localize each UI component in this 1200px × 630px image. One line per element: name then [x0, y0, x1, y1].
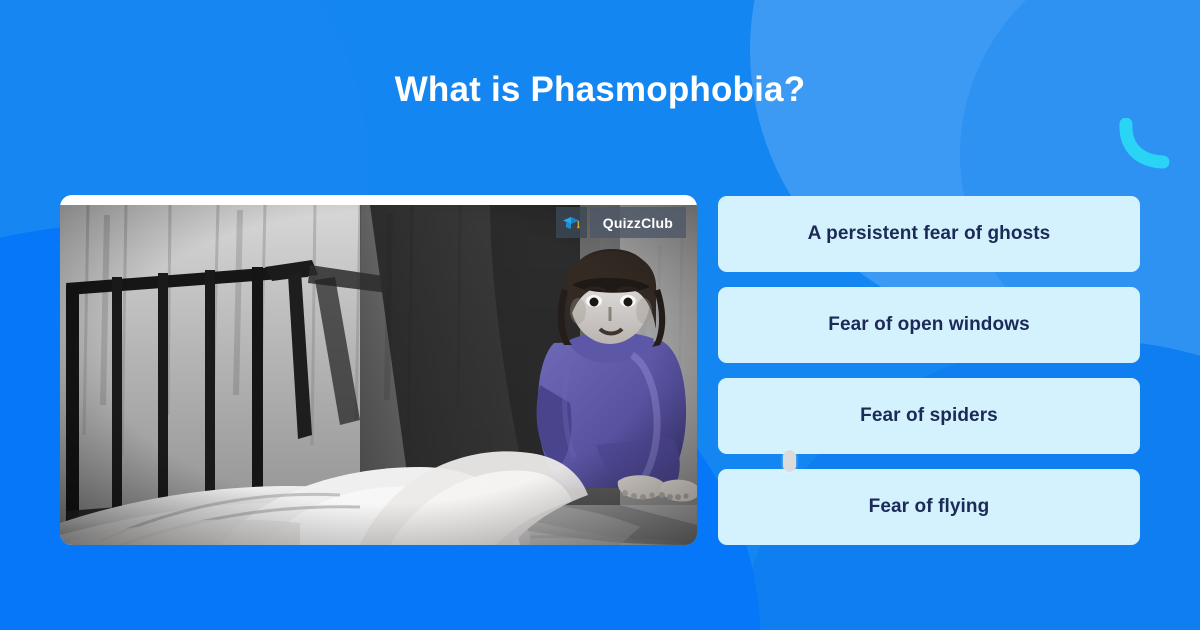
answer-option-label: A persistent fear of ghosts	[808, 223, 1051, 245]
answer-options-list: A persistent fear of ghosts Fear of open…	[718, 196, 1140, 545]
graduation-cap-icon	[556, 207, 587, 238]
watermark: QuizzClub	[556, 207, 686, 238]
scroll-handle[interactable]	[783, 450, 796, 472]
quiz-card: What is Phasmophobia?	[0, 0, 1200, 630]
page-title: What is Phasmophobia?	[0, 70, 1200, 110]
answer-option-2[interactable]: Fear of open windows	[718, 287, 1140, 363]
question-illustration: QuizzClub	[60, 205, 697, 545]
watermark-brand: QuizzClub	[590, 207, 686, 238]
arc-accent-icon	[1118, 118, 1172, 170]
answer-option-label: Fear of spiders	[860, 405, 998, 427]
question-image-panel: QuizzClub	[60, 195, 697, 545]
answer-option-label: Fear of open windows	[828, 314, 1030, 336]
answer-option-4[interactable]: Fear of flying	[718, 469, 1140, 545]
answer-option-3[interactable]: Fear of spiders	[718, 378, 1140, 454]
illustration-artwork	[60, 205, 697, 545]
answer-option-1[interactable]: A persistent fear of ghosts	[718, 196, 1140, 272]
answer-option-label: Fear of flying	[869, 496, 990, 518]
